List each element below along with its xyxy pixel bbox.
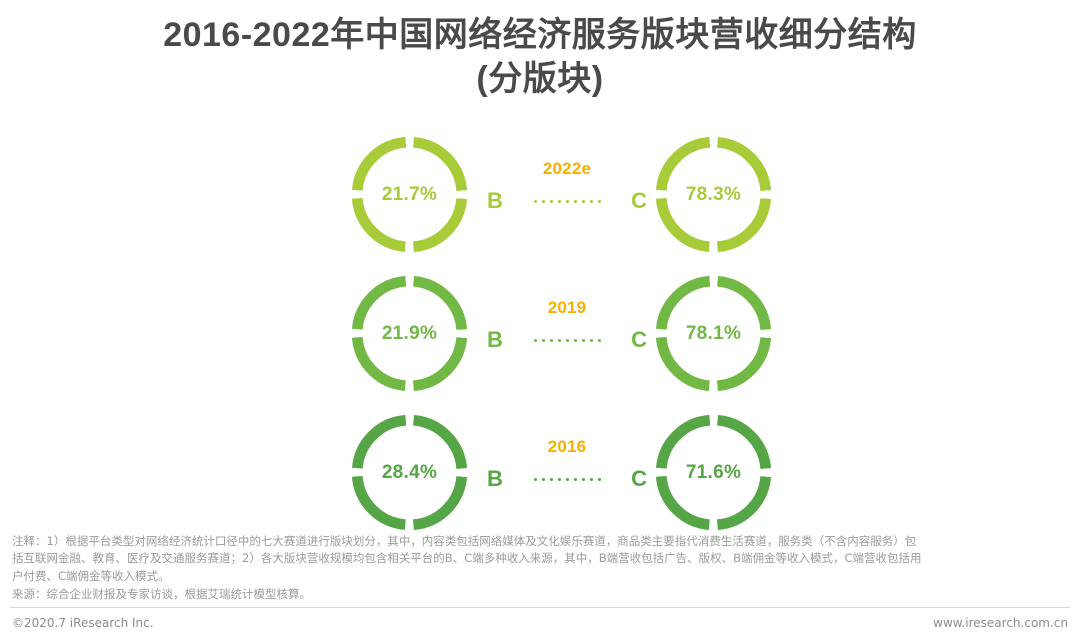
donut-value-c: 78.3% xyxy=(654,135,773,254)
footer-divider xyxy=(10,607,1070,608)
donut-chart-b: 28.4% xyxy=(350,413,469,532)
dotted-connector-icon xyxy=(512,190,622,212)
footnote-line-2: 括互联网金融、教育、医疗及交通服务赛道；2）各大版块营收规模均包含相关平台的B、… xyxy=(12,550,1068,567)
donut-value-c: 71.6% xyxy=(654,413,773,532)
title-line-2: (分版块) xyxy=(0,58,1080,102)
donut-value-b: 21.7% xyxy=(350,135,469,254)
connector-line: B C xyxy=(487,181,647,221)
donut-chart-c: 78.3% xyxy=(654,135,773,254)
chart-row: 21.9% 2019 B C 78.1% xyxy=(0,264,1080,403)
chart-row: 21.7% 2022e B C 78.3% xyxy=(0,125,1080,264)
footnote-line-3: 户付费、C端佣金等收入模式。 xyxy=(12,568,1068,585)
year-label: 2016 xyxy=(487,437,647,457)
title-line-1: 2016-2022年中国网络经济服务版块营收细分结构 xyxy=(0,14,1080,58)
donut-value-b: 21.9% xyxy=(350,274,469,393)
legend-letter-b: B xyxy=(487,327,503,353)
website-link[interactable]: www.iresearch.com.cn xyxy=(933,616,1068,630)
copyright-text: ©2020.7 iResearch Inc. xyxy=(12,616,154,630)
legend-letter-b: B xyxy=(487,466,503,492)
row-connector: 2016 B C xyxy=(487,413,647,532)
legend-letter-c: C xyxy=(631,327,647,353)
chart-area: 21.7% 2022e B C 78.3% xyxy=(0,125,1080,535)
legend-letter-b: B xyxy=(487,188,503,214)
year-label: 2019 xyxy=(487,298,647,318)
dotted-connector-icon xyxy=(512,468,622,490)
connector-line: B C xyxy=(487,459,647,499)
donut-value-b: 28.4% xyxy=(350,413,469,532)
connector-line: B C xyxy=(487,320,647,360)
footnotes: 注释：1）根据平台类型对网络经济统计口径中的七大赛道进行版块划分，其中，内容类包… xyxy=(12,533,1068,604)
donut-chart-c: 71.6% xyxy=(654,413,773,532)
source-line: 来源：综合企业财报及专家访谈，根据艾瑞统计模型核算。 xyxy=(12,586,1068,603)
footnote-line-1: 注释：1）根据平台类型对网络经济统计口径中的七大赛道进行版块划分，其中，内容类包… xyxy=(12,533,1068,550)
legend-letter-c: C xyxy=(631,466,647,492)
dotted-connector-icon xyxy=(512,329,622,351)
footer: ©2020.7 iResearch Inc. www.iresearch.com… xyxy=(12,616,1068,630)
donut-chart-b: 21.7% xyxy=(350,135,469,254)
legend-letter-c: C xyxy=(631,188,647,214)
row-connector: 2019 B C xyxy=(487,274,647,393)
page-title: 2016-2022年中国网络经济服务版块营收细分结构 (分版块) xyxy=(0,14,1080,101)
slide-root: 2016-2022年中国网络经济服务版块营收细分结构 (分版块) 21.7% 2… xyxy=(0,0,1080,643)
row-connector: 2022e B C xyxy=(487,135,647,254)
donut-chart-c: 78.1% xyxy=(654,274,773,393)
chart-row: 28.4% 2016 B C 71.6% xyxy=(0,403,1080,542)
donut-chart-b: 21.9% xyxy=(350,274,469,393)
year-label: 2022e xyxy=(487,159,647,179)
donut-value-c: 78.1% xyxy=(654,274,773,393)
